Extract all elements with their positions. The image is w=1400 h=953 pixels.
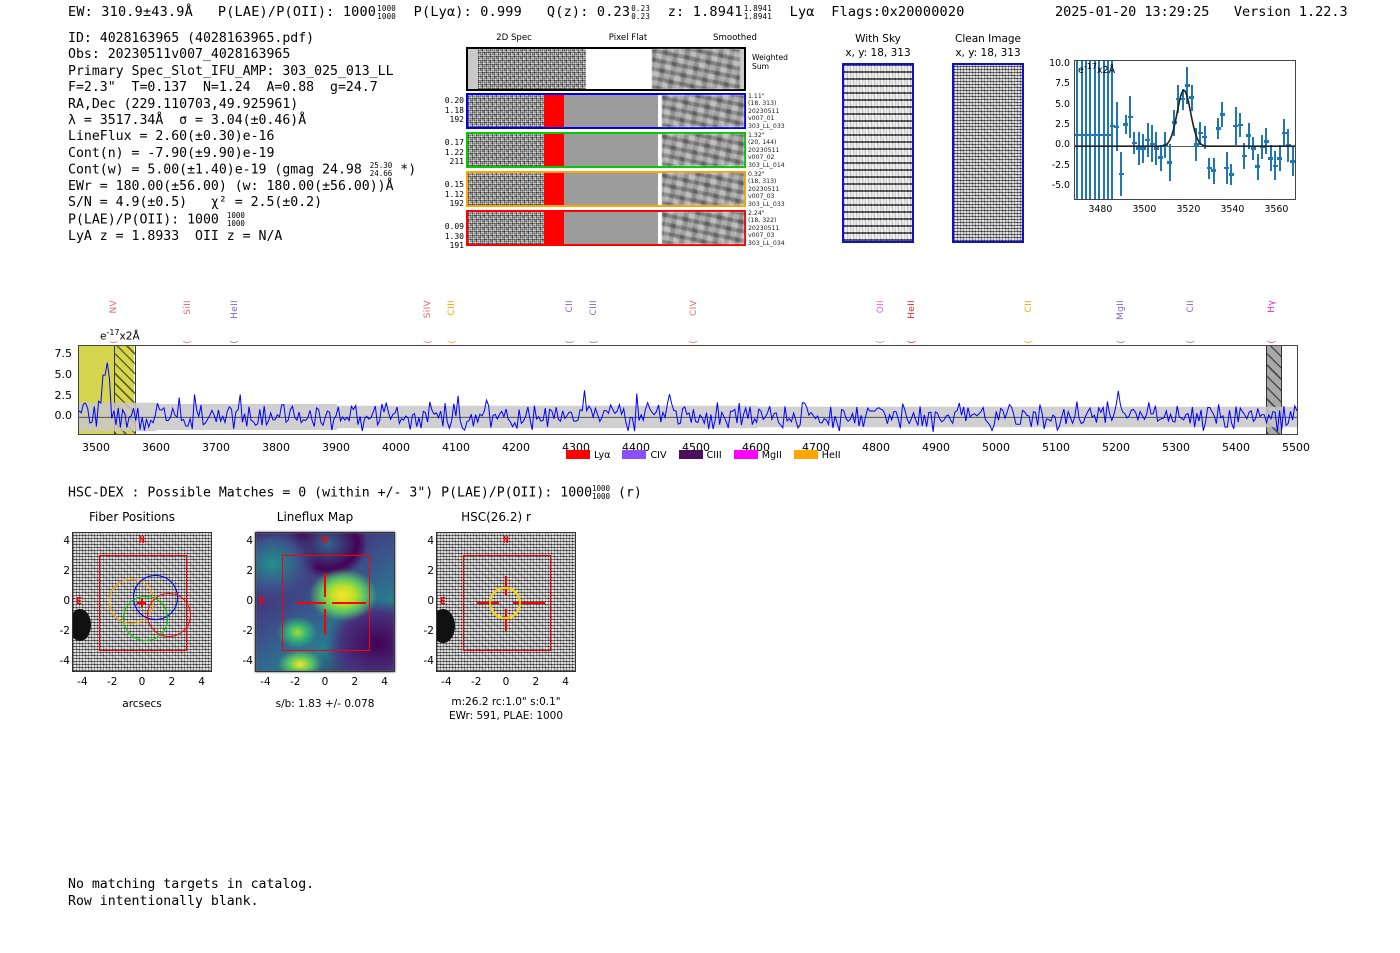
panel-xtick: 0 <box>129 676 155 688</box>
header-version: Version 1.22.3 <box>1234 4 1348 20</box>
mainspec-xtick: 3600 <box>131 441 181 454</box>
cutout-clean-title: Clean Image <box>928 33 1048 45</box>
mainspec-xtick: 3900 <box>311 441 361 454</box>
emission-line-label: CIV <box>689 300 699 316</box>
panel-xtick: 2 <box>342 676 368 688</box>
emplot-ytick: -2.5 <box>1030 160 1070 171</box>
cutout-with-sky-title: With Sky <box>818 33 938 45</box>
emission-line-bracket: ⏝ <box>423 333 432 343</box>
spec2d-row-2 <box>466 171 746 207</box>
emission-line-bracket: ⏝ <box>907 333 916 343</box>
detection-info-block: ID: 4028163965 (4028163965.pdf) Obs: 202… <box>68 31 416 245</box>
info-primary-spec: Primary Spec_Slot_IFU_AMP: 303_025_013_L… <box>68 64 416 80</box>
panel-ytick: 4 <box>227 535 253 547</box>
emission-line-bracket: ⏝ <box>589 333 598 343</box>
emission-line-bracket: ⏝ <box>1024 333 1033 343</box>
info-wavelength: λ = 3517.34Å σ = 3.04(±0.46)Å <box>68 113 416 129</box>
gmag-fraction: 25.3024.66 <box>370 162 393 177</box>
panel-xtick: -2 <box>282 676 308 688</box>
spec2d-left-values-2: 0.151.12192 <box>430 180 464 209</box>
emission-line-bracket: ⏝ <box>1116 333 1125 343</box>
weighted-sum-row <box>466 47 746 91</box>
emplot-xtick: 3500 <box>1124 204 1164 215</box>
emission-line-label: CII <box>565 300 575 313</box>
emission-line-bracket: ⏝ <box>230 333 239 343</box>
emplot-axes <box>1074 60 1296 200</box>
info-id: ID: 4028163965 (4028163965.pdf) <box>68 31 416 47</box>
header-plya: P(Lyα): 0.999 <box>414 4 522 20</box>
legend-swatch <box>734 450 758 459</box>
fiber-positions-image: N E <box>72 532 212 672</box>
panel-xtick: 0 <box>493 676 519 688</box>
emission-line-bracket: ⏝ <box>183 333 192 343</box>
spec2d-row-0 <box>466 93 746 129</box>
mainspec-xtick: 4900 <box>911 441 961 454</box>
emplot-xtick: 3560 <box>1256 204 1296 215</box>
emission-line-bracket: ⏝ <box>1186 333 1195 343</box>
panel-ytick: -4 <box>408 655 434 667</box>
panel-xtick: 4 <box>189 676 215 688</box>
footer-line-2: Row intentionally blank. <box>68 893 314 910</box>
legend-swatch <box>679 450 703 459</box>
mainspec-xtick: 3500 <box>71 441 121 454</box>
hscdex-fraction: 10001000 <box>592 485 610 500</box>
header-ew: EW: 310.9±43.9Å <box>68 4 193 20</box>
lineflux-crosshair-top <box>324 573 326 597</box>
emplot-ytick: 0.0 <box>1030 139 1070 150</box>
panel-xtick: 2 <box>523 676 549 688</box>
panel-ytick: 2 <box>408 565 434 577</box>
emplot-gaussian-fit <box>1075 61 1295 199</box>
emission-line-bracket: ⏝ <box>689 333 698 343</box>
panel-ytick: -4 <box>44 655 70 667</box>
header-timestamp-version: 2025-01-20 13:29:25 Version 1.22.3 <box>1055 4 1348 20</box>
mainspec-xtick: 5400 <box>1211 441 1261 454</box>
info-lineflux: LineFlux = 2.60(±0.30)e-16 <box>68 129 416 145</box>
emission-line-label: OII <box>876 300 886 313</box>
panel-ytick: -2 <box>408 625 434 637</box>
emplot-ytick: 10.0 <box>1030 58 1070 69</box>
spec2d-title-smoothed: Smoothed <box>685 33 785 43</box>
compass-east-label-fp: E <box>76 596 82 607</box>
panel-xtick: 2 <box>159 676 185 688</box>
spec2d-row-1 <box>466 132 746 168</box>
emplot-units-annotation: e-17x2Å <box>1078 62 1115 76</box>
header-lya: Lyα <box>790 4 815 20</box>
fiber-positions-bright-source <box>72 609 91 641</box>
info-plae: P(LAE)/P(OII): 1000 10001000 <box>68 212 416 229</box>
legend-label: HeII <box>822 450 841 461</box>
legend-item: CIII <box>679 450 722 461</box>
mainspec-units-annotation: e-17x2Å <box>100 328 140 343</box>
spec2d-right-values-0: 1.11"(18, 313)20230511v007_01303_LL_033 <box>748 93 808 130</box>
compass-north-label-lf: N <box>322 535 328 546</box>
mainspec-ytick: 5.0 <box>26 368 72 381</box>
header-summary-line: EW: 310.9±43.9Å P(LAE)/P(OII): 100010001… <box>68 4 965 20</box>
hsc-r-title: HSC(26.2) r <box>396 510 596 524</box>
cutout-with-sky-image <box>842 63 914 243</box>
mainspec-xtick: 4100 <box>431 441 481 454</box>
header-qz: Q(z): 0.23 <box>547 4 630 20</box>
lineflux-crosshair-bottom <box>324 609 326 635</box>
header-flags: Flags:0x20000020 <box>831 4 964 20</box>
spec2d-title-2dspec: 2D Spec <box>464 33 564 43</box>
legend-item: MgII <box>734 450 782 461</box>
panel-xtick: -4 <box>252 676 278 688</box>
legend-swatch <box>794 450 818 459</box>
emplot-xtick: 3480 <box>1080 204 1120 215</box>
mainspec-ytick: 2.5 <box>26 389 72 402</box>
panel-ytick: 0 <box>227 595 253 607</box>
mainspec-xtick: 4000 <box>371 441 421 454</box>
panel-ytick: -2 <box>44 625 70 637</box>
panel-ytick: -2 <box>227 625 253 637</box>
panel-xtick: 4 <box>372 676 398 688</box>
emplot-ytick: 2.5 <box>1030 119 1070 130</box>
emission-line-bracket: ⏝ <box>1267 333 1276 343</box>
full-spectrum-plot: e-17x2Å 0.02.55.07.5 3500360037003800390… <box>78 345 1298 435</box>
emission-line-label: CIII <box>589 300 599 315</box>
emission-line-label: SiII <box>183 300 193 315</box>
spec2d-right-values-2: 0.32"(18, 313)20230511v007_03303_LL_033 <box>748 171 808 208</box>
legend-item: CIV <box>622 450 666 461</box>
legend-label: Lyα <box>594 450 610 461</box>
compass-east-label-hsc: E <box>440 596 446 607</box>
spec2d-left-values-1: 0.171.22211 <box>430 138 464 167</box>
hscdex-filter: (r) <box>618 485 642 500</box>
emission-line-label: Hγ <box>1267 300 1277 313</box>
hsc-r-caption-1: m:26.2 rc:1.0" s:0.1" <box>386 696 626 708</box>
panel-ytick: 0 <box>408 595 434 607</box>
cutout-with-sky-subtitle: x, y: 18, 313 <box>818 47 938 59</box>
hsc-r-image: N E <box>436 532 576 672</box>
panel-xtick: 4 <box>553 676 579 688</box>
mainspec-xtick: 5200 <box>1091 441 1141 454</box>
legend-label: CIV <box>650 450 666 461</box>
hsc-r-aperture-circle <box>489 587 521 619</box>
mainspec-xtick: 4200 <box>491 441 541 454</box>
hscdex-text: HSC-DEX : Possible Matches = 0 (within +… <box>68 485 592 500</box>
emplot-ytick: -5.0 <box>1030 180 1070 191</box>
spec2d-left-values-0: 0.201.18192 <box>430 96 464 125</box>
emission-line-fit-plot: e-17x2Å -5.0-2.50.02.55.07.510.0 3480350… <box>1036 54 1304 224</box>
footer-note: No matching targets in catalog. Row inte… <box>68 876 314 910</box>
info-continuum-narrow: Cont(n) = -7.90(±9.90)e-19 <box>68 146 416 162</box>
info-plae-fraction: 10001000 <box>227 212 245 227</box>
info-obs: Obs: 20230511v007_4028163965 <box>68 47 416 63</box>
header-plae-fraction: 10001000 <box>377 5 396 20</box>
emission-line-label: CII <box>1186 300 1196 313</box>
emission-line-label: HeII <box>230 300 240 319</box>
info-continuum-wide: Cont(w) = 5.00(±1.40)e-19 (gmag 24.98 25… <box>68 162 416 179</box>
emission-line-bracket: ⏝ <box>565 333 574 343</box>
emission-line-label: NV <box>109 300 119 314</box>
cutout-clean-image-image <box>952 63 1024 243</box>
compass-north-label-fp: N <box>139 535 145 546</box>
lineflux-map-overlay: N E <box>255 532 395 672</box>
emission-line-label: MgII <box>1116 300 1126 320</box>
legend-label: MgII <box>762 450 782 461</box>
emplot-xtick: 3540 <box>1212 204 1252 215</box>
info-seeing: F=2.3" T=0.137 N=1.24 A=0.88 g=24.7 <box>68 80 416 96</box>
info-redshifts: LyA z = 1.8933 OII z = N/A <box>68 229 416 245</box>
panel-xtick: -2 <box>463 676 489 688</box>
panel-xtick: -4 <box>69 676 95 688</box>
spec2d-row-3 <box>466 210 746 246</box>
header-datetime: 2025-01-20 13:29:25 <box>1055 4 1209 20</box>
emission-line-label: CIII <box>447 300 457 315</box>
mainspec-xtick: 5100 <box>1031 441 1081 454</box>
panel-ytick: 4 <box>408 535 434 547</box>
emission-line-label: CII <box>1024 300 1034 313</box>
compass-north-label-hsc: N <box>503 535 509 546</box>
emission-line-label: SiIV <box>423 300 433 318</box>
hsc-r-caption-2: EWr: 591, PLAE: 1000 <box>386 710 626 722</box>
mainspec-ytick: 0.0 <box>26 409 72 422</box>
fiber-positions-title: Fiber Positions <box>32 510 232 524</box>
panel-ytick: -4 <box>227 655 253 667</box>
panel-xtick: 0 <box>312 676 338 688</box>
mainspec-xtick: 3700 <box>191 441 241 454</box>
emplot-xtick: 3520 <box>1168 204 1208 215</box>
mainspec-xtick: 5000 <box>971 441 1021 454</box>
mainspec-xtick: 5500 <box>1271 441 1321 454</box>
panel-ytick: 0 <box>44 595 70 607</box>
spec2d-right-values-3: 2.24"(18, 322)20230511v007_03303_LL_034 <box>748 210 808 247</box>
legend-item: HeII <box>794 450 841 461</box>
spec2d-right-values-1: 1.32"(20, 144)20230511v007_02303_LL_014 <box>748 132 808 169</box>
hsc-r-bright-source <box>436 609 455 643</box>
mainspec-axes <box>78 345 1298 435</box>
header-plae: P(LAE)/P(OII): 1000 <box>218 4 376 20</box>
emission-line-bracket: ⏝ <box>876 333 885 343</box>
header-z-fraction: 1.89411.8941 <box>744 5 772 20</box>
mainspec-xtick: 4800 <box>851 441 901 454</box>
lineflux-crosshair-left <box>296 602 326 604</box>
emplot-ytick: 7.5 <box>1030 78 1070 89</box>
panel-xtick: -2 <box>99 676 125 688</box>
lineflux-crosshair-right <box>332 602 366 604</box>
header-qz-fraction: 0.230.23 <box>631 5 650 20</box>
emission-line-label: HeII <box>907 300 917 319</box>
mainspec-xtick: 3800 <box>251 441 301 454</box>
panel-xtick: -4 <box>433 676 459 688</box>
info-radec: RA,Dec (229.110703,49.925961) <box>68 97 416 113</box>
info-ewr: EWr = 180.00(±56.00) (w: 180.00(±56.00))… <box>68 179 416 195</box>
compass-east-label-lf: E <box>259 596 265 607</box>
legend-label: CIII <box>707 450 722 461</box>
footer-line-1: No matching targets in catalog. <box>68 876 314 893</box>
weighted-sum-label: Weighted Sum <box>752 53 812 71</box>
emplot-ytick: 5.0 <box>1030 99 1070 110</box>
emission-line-bracket: ⏝ <box>447 333 456 343</box>
legend-item: Lyα <box>566 450 610 461</box>
mainspec-series <box>79 346 1297 434</box>
spec2d-left-values-3: 0.091.30191 <box>430 222 464 251</box>
mainspec-legend: LyαCIVCIIIMgIIHeII <box>566 450 841 461</box>
header-z: z: 1.8941 <box>668 4 743 20</box>
panel-ytick: 2 <box>44 565 70 577</box>
panel-ytick: 4 <box>44 535 70 547</box>
panel-ytick: 2 <box>227 565 253 577</box>
legend-swatch <box>566 450 590 459</box>
mainspec-xtick: 5300 <box>1151 441 1201 454</box>
lineflux-map-title: Lineflux Map <box>215 510 415 524</box>
info-snr-chi2: S/N = 4.9(±0.5) χ² = 2.5(±0.2) <box>68 195 416 211</box>
spec2d-title-pixelflat: Pixel Flat <box>578 33 678 43</box>
legend-swatch <box>622 450 646 459</box>
mainspec-ytick: 7.5 <box>26 347 72 360</box>
hsc-dex-match-line: HSC-DEX : Possible Matches = 0 (within +… <box>68 485 642 500</box>
